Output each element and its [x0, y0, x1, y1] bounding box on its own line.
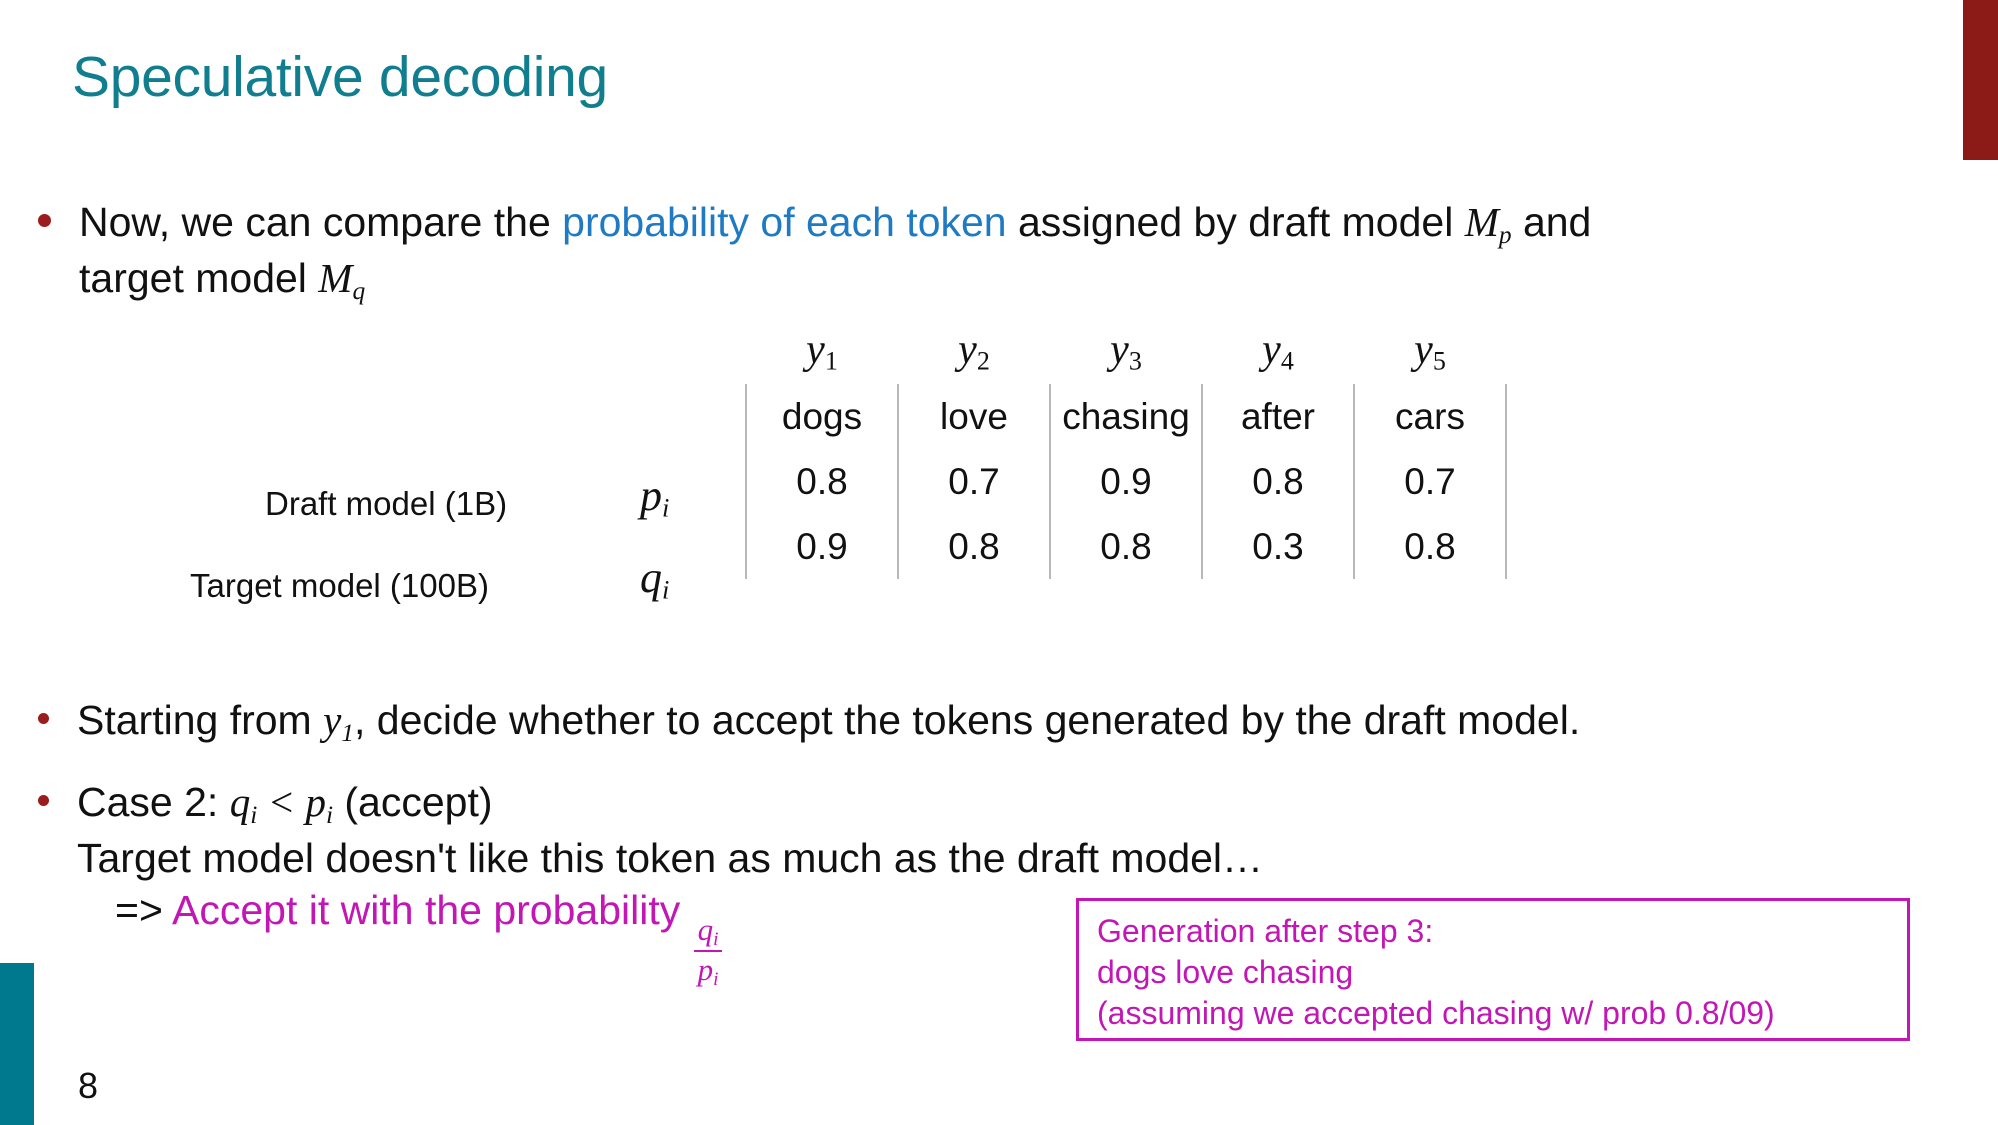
- token-cell: dogs: [746, 384, 898, 449]
- math-m-q-base: M: [318, 255, 352, 301]
- math-q-i: qi: [230, 779, 258, 825]
- p-symbol-base: p: [640, 471, 662, 520]
- q-symbol-label: qi: [640, 552, 669, 606]
- math-y-1: y1: [323, 697, 354, 743]
- table-row-p-values: 0.8 0.7 0.9 0.8 0.7: [746, 449, 1506, 514]
- math-p-i-sub: i: [326, 801, 333, 829]
- table-header-y4: y4: [1202, 318, 1354, 384]
- draft-model-label: Draft model (1B): [265, 485, 507, 523]
- bullet-3-case-line: Case 2: qi < pi (accept): [77, 779, 493, 825]
- p-symbol-sub: i: [662, 493, 669, 523]
- token-cell: cars: [1354, 384, 1506, 449]
- q-value-cell: 0.8: [898, 514, 1050, 579]
- math-m-p-sub: p: [1499, 221, 1512, 249]
- p-value-cell: 0.8: [1202, 449, 1354, 514]
- math-m-p: Mp: [1465, 199, 1512, 245]
- bullet-marker-icon: [38, 795, 49, 806]
- p-symbol-label: pi: [640, 470, 669, 524]
- callout-line-3: (assuming we accepted chasing w/ prob 0.…: [1097, 993, 1907, 1034]
- math-p-i-base: p: [305, 779, 326, 825]
- fraction-q-over-p: qi pi: [694, 914, 723, 989]
- math-y-1-base: y: [323, 697, 341, 743]
- table-row-tokens: dogs love chasing after cars: [746, 384, 1506, 449]
- math-less-than-operator: <: [257, 779, 305, 825]
- bullet-marker-icon: [38, 713, 49, 724]
- probability-table: y1 y2 y3 y4 y5 dogs love chasing after c…: [745, 318, 1507, 579]
- bullet-1-part-3: and: [1512, 199, 1592, 245]
- probability-table-container: y1 y2 y3 y4 y5 dogs love chasing after c…: [745, 318, 1507, 579]
- token-cell: love: [898, 384, 1050, 449]
- bullet-3-part-1: Case 2:: [77, 779, 230, 825]
- p-value-cell: 0.7: [1354, 449, 1506, 514]
- bullet-1-line2-part-1: target model: [79, 255, 318, 301]
- slide-canvas: Speculative decoding Now, we can compare…: [0, 0, 1998, 1125]
- bullet-2-part-1: Starting from: [77, 697, 323, 743]
- page-number: 8: [78, 1065, 98, 1107]
- bullet-3-line3: => Accept it with the probability qi pi: [115, 884, 724, 989]
- fraction-numerator: qi: [694, 914, 723, 950]
- arrow-glyph: =>: [115, 887, 172, 933]
- bullet-1-part-2: assigned by draft model: [1007, 199, 1465, 245]
- table-header-row: y1 y2 y3 y4 y5: [746, 318, 1506, 384]
- page-title: Speculative decoding: [72, 44, 608, 110]
- table-header-y5: y5: [1354, 318, 1506, 384]
- q-value-cell-highlighted: 0.8: [1050, 514, 1202, 579]
- callout-line-2: dogs love chasing: [1097, 952, 1907, 993]
- table-header-y2: y2: [898, 318, 1050, 384]
- bullet-1-part-1: Now, we can compare the: [79, 199, 562, 245]
- bullet-item-1: Now, we can compare the probability of e…: [38, 196, 1938, 307]
- bullet-3-part-2: (accept): [333, 779, 493, 825]
- math-p-i: pi: [305, 779, 333, 825]
- q-symbol-base: q: [640, 553, 662, 602]
- math-q-i-base: q: [230, 779, 251, 825]
- bullet-item-2: Starting from y1, decide whether to acce…: [38, 694, 1938, 750]
- math-m-q: Mq: [318, 255, 365, 301]
- math-y-1-sub: 1: [341, 719, 354, 747]
- bullet-marker-icon: [38, 214, 51, 227]
- bullet-1-highlight: probability of each token: [562, 199, 1006, 245]
- q-value-cell: 0.8: [1354, 514, 1506, 579]
- math-m-p-base: M: [1465, 199, 1499, 245]
- table-row-q-values: 0.9 0.8 0.8 0.3 0.8: [746, 514, 1506, 579]
- math-m-q-sub: q: [352, 277, 365, 305]
- fraction-denominator: pi: [694, 950, 723, 989]
- token-cell: after: [1202, 384, 1354, 449]
- bullet-3-accept-text: Accept it with the probability: [172, 887, 692, 933]
- table-header-y1: y1: [746, 318, 898, 384]
- callout-line-1: Generation after step 3:: [1097, 911, 1907, 952]
- q-symbol-sub: i: [662, 575, 669, 605]
- token-cell: chasing: [1050, 384, 1202, 449]
- q-value-cell: 0.9: [746, 514, 898, 579]
- decorative-red-bar: [1963, 0, 1998, 160]
- p-value-cell: 0.7: [898, 449, 1050, 514]
- generation-callout-box: Generation after step 3: dogs love chasi…: [1076, 898, 1910, 1041]
- bullet-3-line2: Target model doesn't like this token as …: [77, 835, 1263, 881]
- p-value-cell: 0.8: [746, 449, 898, 514]
- decorative-teal-bar: [0, 963, 34, 1125]
- bullet-2-text: Starting from y1, decide whether to acce…: [77, 694, 1580, 750]
- q-value-cell: 0.3: [1202, 514, 1354, 579]
- bullet-2-part-2: , decide whether to accept the tokens ge…: [354, 697, 1580, 743]
- target-model-label: Target model (100B): [190, 567, 489, 605]
- bullet-1-text: Now, we can compare the probability of e…: [79, 196, 1591, 307]
- p-value-cell-highlighted: 0.9: [1050, 449, 1202, 514]
- table-header-y3: y3: [1050, 318, 1202, 384]
